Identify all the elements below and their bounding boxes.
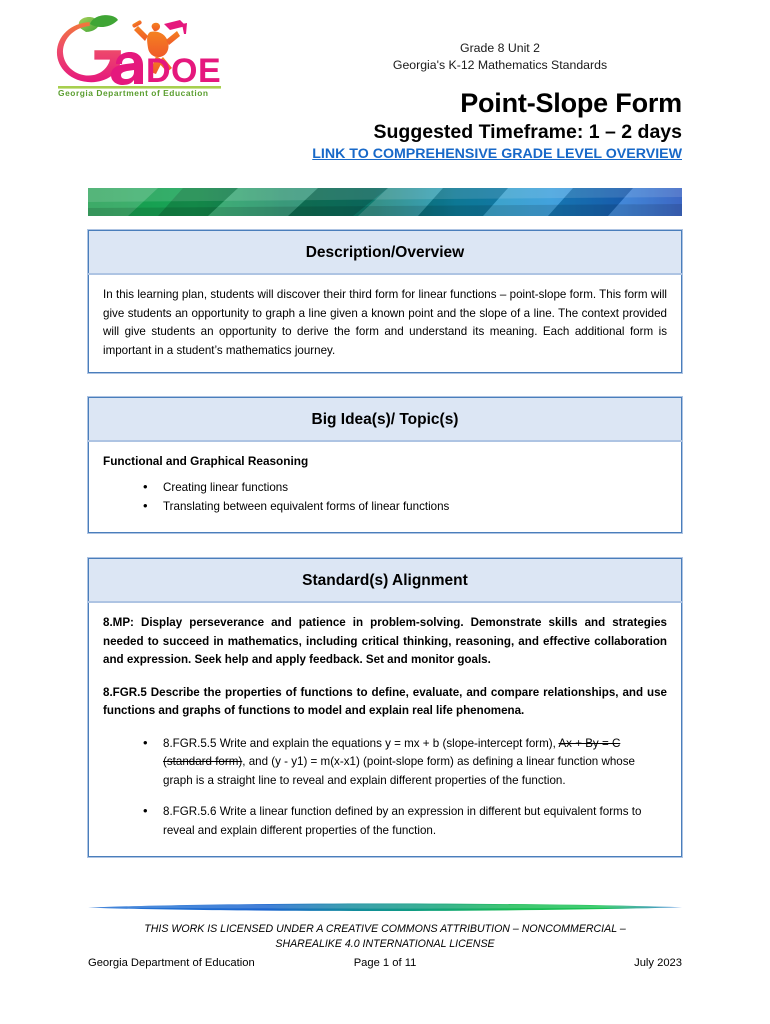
standard-8fgr5-paragraph: 8.FGR.5 Describe the properties of funct… [103,684,667,721]
title-block: Point-Slope Form Suggested Timeframe: 1 … [162,88,682,164]
license-notice: THIS WORK IS LICENSED UNDER A CREATIVE C… [0,922,770,951]
list-item-8fgr55: 8.FGR.5.5 Write and explain the equation… [103,735,667,791]
svg-text:O: O [171,52,197,90]
list-item: Creating linear functions [103,479,667,498]
svg-text:E: E [198,52,221,90]
grade-unit-line: Grade 8 Unit 2 [300,40,700,57]
document-page: D O E Georgia Department of Education Gr… [0,0,770,1024]
footer-date: July 2023 [634,955,682,971]
section-heading-standards: Standard(s) Alignment [88,558,682,602]
section-body-big-ideas: Functional and Graphical Reasoning Creat… [88,441,682,533]
suggested-timeframe: Suggested Timeframe: 1 – 2 days [162,120,682,144]
section-heading-big-ideas: Big Idea(s)/ Topic(s) [88,397,682,441]
section-standards-alignment: Standard(s) Alignment 8.MP: Display pers… [88,558,682,857]
header-subtitle-lines: Grade 8 Unit 2 Georgia's K-12 Mathematic… [300,40,700,74]
page-header: D O E Georgia Department of Education Gr… [0,0,770,180]
gadoe-logo: D O E Georgia Department of Education [46,12,226,98]
section-big-ideas: Big Idea(s)/ Topic(s) Functional and Gra… [88,397,682,533]
bullet-prefix-text: 8.FGR.5.5 Write and explain the equation… [163,737,558,750]
license-line-1: THIS WORK IS LICENSED UNDER A CREATIVE C… [0,922,770,937]
section-heading-description: Description/Overview [88,230,682,274]
standards-bullet-list: 8.FGR.5.5 Write and explain the equation… [103,735,667,841]
svg-text:D: D [146,52,171,90]
header-gradient-bar [88,188,682,216]
description-paragraph: In this learning plan, students will dis… [103,286,667,360]
standard-8mp-paragraph: 8.MP: Display perseverance and patience … [103,614,667,670]
page-title: Point-Slope Form [162,88,682,119]
footer-gradient-divider [88,898,682,916]
section-description: Description/Overview In this learning pl… [88,230,682,373]
section-body-standards: 8.MP: Display perseverance and patience … [88,602,682,857]
footer-info-row: Georgia Department of Education Page 1 o… [0,955,770,971]
standards-line: Georgia's K-12 Mathematics Standards [300,57,700,74]
license-line-2: SHAREALIKE 4.0 INTERNATIONAL LICENSE [0,937,770,952]
list-item-8fgr56: 8.FGR.5.6 Write a linear function define… [103,803,667,840]
big-ideas-subheading: Functional and Graphical Reasoning [103,453,667,470]
grade-level-overview-link[interactable]: LINK TO COMPREHENSIVE GRADE LEVEL OVERVI… [312,145,682,164]
page-footer: THIS WORK IS LICENSED UNDER A CREATIVE C… [0,898,770,971]
list-item: Translating between equivalent forms of … [103,498,667,517]
big-ideas-bullet-list: Creating linear functions Translating be… [103,479,667,516]
section-body-description: In this learning plan, students will dis… [88,274,682,373]
